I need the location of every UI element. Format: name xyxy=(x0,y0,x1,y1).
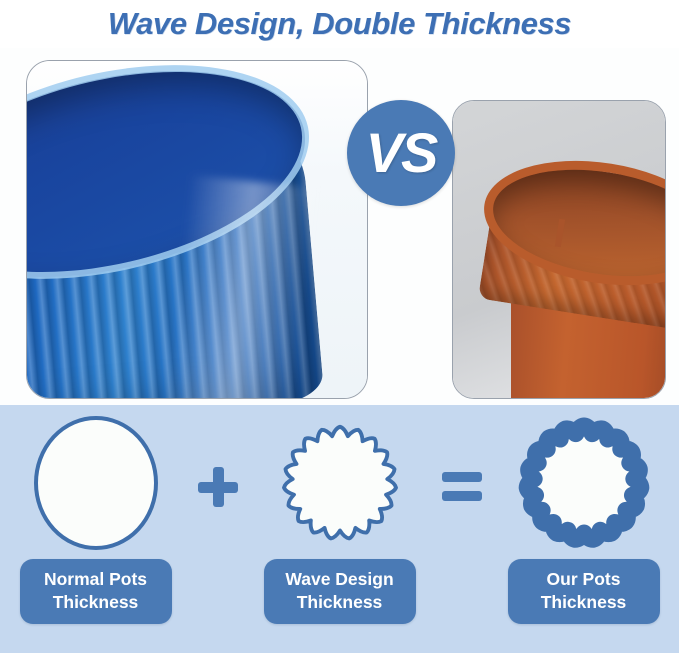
wavy-circle-thick-icon xyxy=(511,410,657,556)
label-our-line1: Our Pots xyxy=(547,569,621,589)
left-product-photo xyxy=(26,60,368,399)
equals-icon xyxy=(442,472,482,502)
vs-badge-label: VS xyxy=(366,125,437,181)
plus-icon xyxy=(198,467,238,507)
label-wave-line2: Thickness xyxy=(277,591,403,614)
label-wave-line1: Wave Design xyxy=(285,569,393,589)
vs-badge: VS xyxy=(347,100,455,206)
label-our-pots-thickness: Our Pots Thickness xyxy=(508,559,660,624)
label-normal-pots-thickness: Normal Pots Thickness xyxy=(20,559,172,624)
shape-slot-wave xyxy=(277,413,403,553)
blue-pot-highlight xyxy=(165,175,319,399)
blue-pot-image xyxy=(27,61,367,398)
wavy-circle-thin-icon xyxy=(277,418,403,548)
shape-slot-normal xyxy=(30,413,162,553)
label-wave-design-thickness: Wave Design Thickness xyxy=(264,559,416,624)
right-product-photo xyxy=(452,100,666,399)
page-title: Wave Design, Double Thickness xyxy=(108,6,571,42)
formula-row: Normal Pots Thickness Wave Design xyxy=(0,405,679,653)
formula-term-wave-design: Wave Design Thickness xyxy=(246,405,434,624)
label-our-line2: Thickness xyxy=(521,591,647,614)
infographic-page: Wave Design, Double Thickness VS xyxy=(0,0,679,653)
comparison-section: VS xyxy=(0,48,679,405)
plain-circle-icon xyxy=(30,413,162,553)
operator-plus xyxy=(190,405,246,561)
terracotta-pot-image xyxy=(453,101,665,398)
operator-equals xyxy=(434,405,490,561)
label-normal-line1: Normal Pots xyxy=(44,569,147,589)
label-normal-line2: Thickness xyxy=(33,591,159,614)
thickness-formula-section: Normal Pots Thickness Wave Design xyxy=(0,405,679,653)
formula-term-our-pots: Our Pots Thickness xyxy=(490,405,678,624)
formula-term-normal-pots: Normal Pots Thickness xyxy=(2,405,190,624)
page-title-bar: Wave Design, Double Thickness xyxy=(0,0,679,48)
shape-slot-our-pots xyxy=(511,413,657,553)
